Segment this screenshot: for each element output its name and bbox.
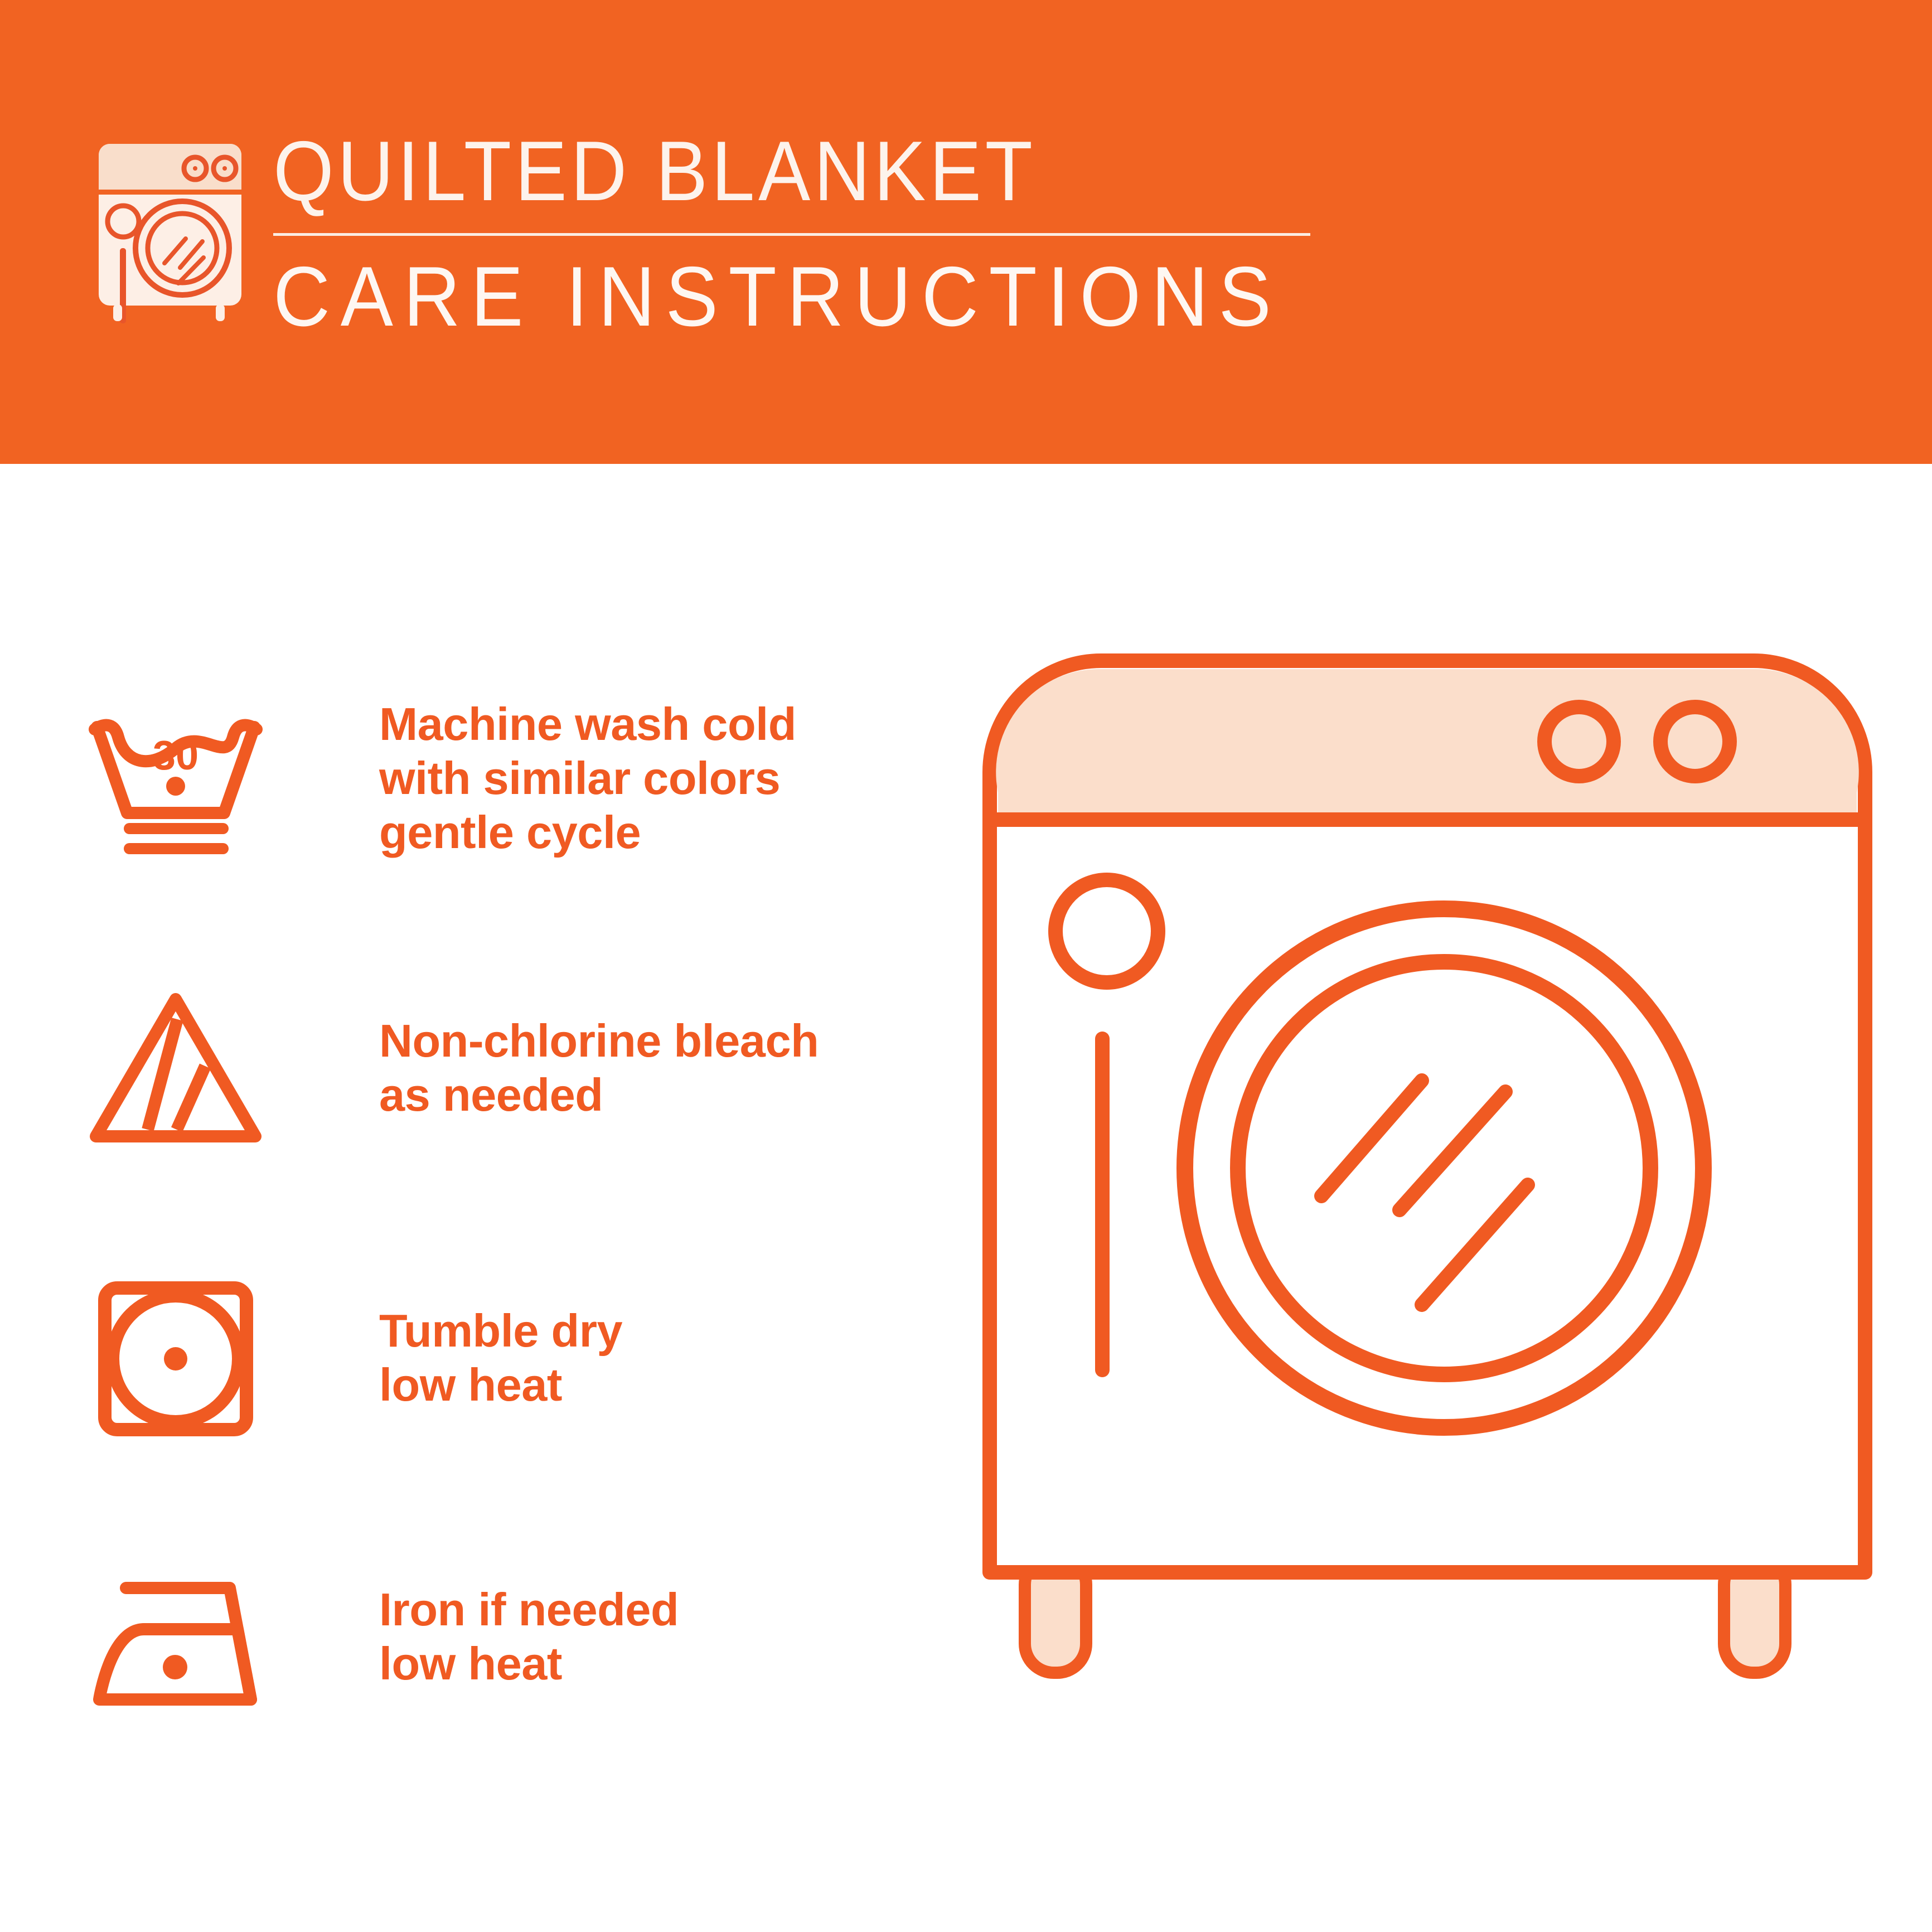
page-title: QUILTED BLANKET	[273, 129, 1586, 213]
page-subtitle: CARE INSTRUCTIONS	[273, 253, 1601, 341]
tumble-dry-low-heat-icon	[84, 1266, 268, 1450]
header-banner: QUILTED BLANKET CARE INSTRUCTIONS	[0, 0, 1932, 464]
care-row-tumble-dry: Tumble dry low heat	[0, 1266, 948, 1450]
care-text-iron: Iron if needed low heat	[379, 1582, 679, 1691]
header-divider	[273, 233, 1310, 236]
svg-text:30: 30	[153, 732, 198, 778]
care-row-machine-wash: 30 Machine wash cold with similar colors…	[0, 686, 948, 870]
care-row-bleach: Non-chlorine bleach as needed	[0, 976, 948, 1160]
knob-left	[1544, 707, 1614, 776]
care-text-bleach: Non-chlorine bleach as needed	[379, 1014, 819, 1122]
wash-tub-30-gentle-icon: 30	[84, 686, 268, 870]
care-text-machine-wash: Machine wash cold with similar colors ge…	[379, 697, 796, 859]
header-text-block: QUILTED BLANKET CARE INSTRUCTIONS	[273, 129, 1701, 341]
knob-right	[1660, 707, 1730, 776]
door-handle	[1095, 1032, 1110, 1377]
washing-machine-illustration	[959, 630, 1896, 1706]
non-chlorine-bleach-triangle-icon	[84, 976, 268, 1160]
washing-machine-icon	[86, 134, 254, 323]
care-instructions-poster: QUILTED BLANKET CARE INSTRUCTIONS 30	[0, 0, 1932, 1932]
care-row-iron: Iron if needed low heat	[0, 1544, 948, 1728]
care-text-tumble-dry: Tumble dry low heat	[379, 1304, 622, 1412]
iron-low-heat-icon	[84, 1544, 268, 1728]
